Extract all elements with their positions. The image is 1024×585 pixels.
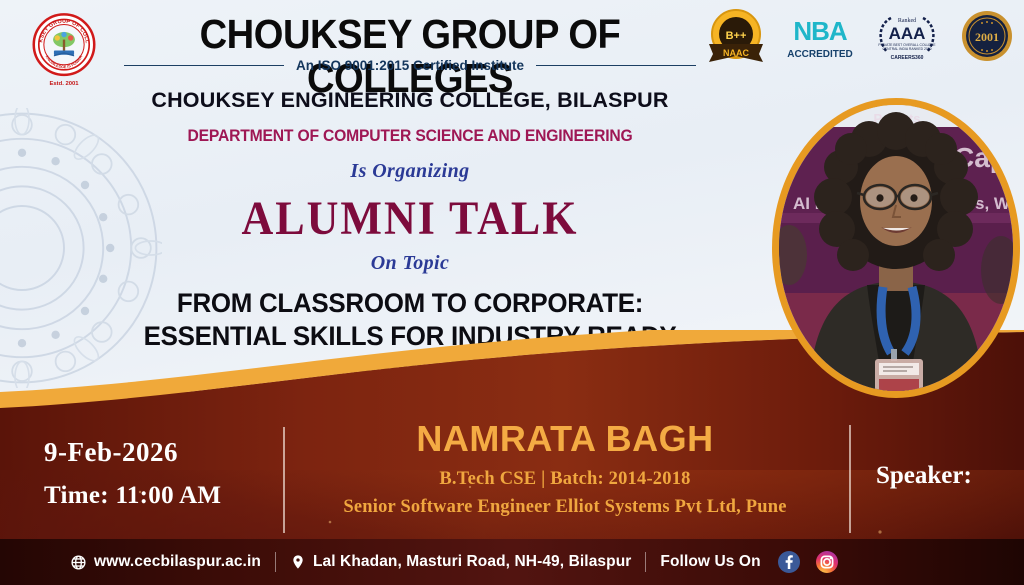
- speaker-label: Speaker:: [876, 462, 972, 490]
- speaker-photo-ring: Patents n H Cap AI E s, W: [772, 98, 1020, 398]
- college-logo: CHOUKSEY GROUP OF COLLEGES KNOWLEDGE IS …: [22, 6, 106, 90]
- footer-bar: www.cecbilaspur.ac.in Lal Khadan, Mastur…: [0, 539, 1024, 585]
- divider-right: [849, 425, 851, 533]
- iso-certification-row: An ISO 9001:2015 Certified Institute: [110, 58, 710, 73]
- svg-text:B++: B++: [726, 30, 747, 42]
- address-text: Lal Khadan, Masturi Road, NH-49, Bilaspu…: [313, 553, 631, 571]
- speaker-name: NAMRATA BAGH: [300, 418, 830, 460]
- iso-rule-right: [536, 65, 696, 67]
- website-text: www.cecbilaspur.ac.in: [94, 553, 261, 571]
- globe-icon: [70, 554, 87, 571]
- footer-separator-1: [275, 552, 276, 572]
- accreditation-badges: B++ NAAC NBA ACCREDITED Ranked AAA PRIVA…: [703, 8, 1016, 64]
- department-line: DEPARTMENT OF COMPUTER SCIENCE AND ENGIN…: [97, 127, 724, 146]
- engineering-college-line: CHOUKSEY ENGINEERING COLLEGE, BILASPUR: [80, 88, 740, 113]
- event-title: ALUMNI TALK: [80, 191, 740, 246]
- event-poster: CHOUKSEY GROUP OF COLLEGES KNOWLEDGE IS …: [0, 0, 1024, 585]
- svg-text:NBA: NBA: [793, 16, 848, 46]
- facebook-icon[interactable]: [777, 550, 801, 574]
- established-2001-badge: 2001: [958, 8, 1016, 64]
- event-date: 9-Feb-2026: [44, 437, 221, 468]
- event-time: Time: 11:00 AM: [44, 482, 221, 510]
- page-title: CHOUKSEY GROUP OF COLLEGES: [131, 12, 689, 100]
- svg-text:AAA: AAA: [889, 24, 926, 43]
- svg-text:CAREERS360: CAREERS360: [891, 55, 924, 61]
- svg-text:CENTRAL INDIA RANKED 2020: CENTRAL INDIA RANKED 2020: [882, 47, 931, 51]
- website-item[interactable]: www.cecbilaspur.ac.in: [70, 553, 261, 571]
- speaker-qualification: B.Tech CSE | Batch: 2014-2018: [300, 469, 830, 490]
- main-content-block: CHOUKSEY ENGINEERING COLLEGE, BILASPUR D…: [80, 88, 740, 386]
- nba-badge: NBA ACCREDITED: [784, 8, 856, 64]
- organizing-label: Is Organizing: [80, 160, 740, 183]
- svg-text:ACCREDITED: ACCREDITED: [787, 49, 853, 60]
- instagram-icon[interactable]: [815, 550, 839, 574]
- svg-text:s, W: s, W: [975, 194, 1011, 213]
- location-pin-icon: [290, 553, 306, 571]
- follow-us-label: Follow Us On: [660, 553, 760, 571]
- topic-line-2: ESSENTIAL SKILLS FOR INDUSTRY-READY ENGI…: [93, 320, 727, 386]
- follow-us-group: Follow Us On: [660, 550, 838, 574]
- svg-text:2001: 2001: [975, 30, 999, 44]
- careers360-aaa-badge: Ranked AAA PRIVATE BEST OVERALL COLLEGE …: [871, 8, 943, 64]
- speaker-photo: Patents n H Cap AI E s, W: [779, 105, 1013, 391]
- address-item: Lal Khadan, Masturi Road, NH-49, Bilaspu…: [290, 553, 631, 571]
- speaker-role: Senior Software Engineer Elliot Systems …: [300, 497, 830, 518]
- speaker-details: NAMRATA BAGH B.Tech CSE | Batch: 2014-20…: [300, 418, 830, 518]
- svg-text:Estd. 2001: Estd. 2001: [50, 81, 80, 87]
- iso-text: An ISO 9001:2015 Certified Institute: [296, 58, 524, 73]
- iso-rule-left: [124, 65, 284, 67]
- on-topic-label: On Topic: [80, 252, 740, 275]
- topic-line-1: FROM CLASSROOM TO CORPORATE:: [93, 287, 727, 320]
- naac-badge: B++ NAAC: [703, 8, 769, 64]
- svg-text:NAAC: NAAC: [723, 48, 749, 58]
- event-datetime: 9-Feb-2026 Time: 11:00 AM: [44, 437, 221, 510]
- divider-left: [283, 427, 285, 533]
- footer-separator-2: [645, 552, 646, 572]
